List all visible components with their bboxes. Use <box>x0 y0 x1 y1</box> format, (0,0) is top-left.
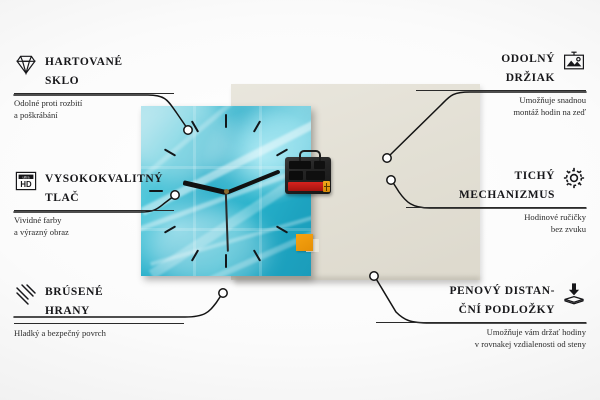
feature-rule <box>14 323 184 324</box>
feature-rule <box>14 210 174 211</box>
feature-rule <box>14 93 174 94</box>
feature-title-line2: HRANY <box>45 305 90 317</box>
svg-text:ultra: ultra <box>23 175 30 179</box>
hanger-hook <box>299 150 321 161</box>
feature-desc-line1: Vividné farby <box>14 214 174 226</box>
feature-hd-print: ultra HD VYSOKOKVALITNÝ TLAČ Vividné far… <box>14 169 174 238</box>
feature-title-line1: TICHÝ <box>515 170 555 182</box>
clock-mechanism <box>285 157 331 194</box>
feature-desc-line1: Umožňuje snadnou <box>416 94 586 106</box>
feature-desc-line2: a poškrábání <box>14 109 174 121</box>
feature-desc-line2: a výrazný obraz <box>14 226 174 238</box>
feature-desc-line2: v rovnakej vzdialenosti od steny <box>376 338 586 350</box>
feature-desc-line2: montáž hodin na zeď <box>416 106 586 118</box>
picture-hanger-icon <box>562 49 586 73</box>
feature-rule <box>416 90 586 91</box>
feature-foam-spacers: PENOVÝ DISTAN- ČNÍ PODLOŽKY Umožňuje vám… <box>376 281 586 350</box>
gear-icon <box>562 166 586 190</box>
battery <box>288 182 326 191</box>
feature-hardened-glass: HARTOVANÉ SKLO Odolné proti rozbití a po… <box>14 52 174 121</box>
feature-desc-line1: Odolné proti rozbití <box>14 97 174 109</box>
feature-title-line2: ČNÍ PODLOŽKY <box>459 304 555 316</box>
feature-title-line2: TLAČ <box>45 192 79 204</box>
feature-title-line1: ODOLNÝ <box>501 53 555 65</box>
feature-desc-line2: bez zvuku <box>406 223 586 235</box>
infographic-canvas: HARTOVANÉ SKLO Odolné proti rozbití a po… <box>0 0 600 400</box>
feature-silent-mechanism: TICHÝ MECHANIZMUS Hodinové ručičky bez z… <box>406 166 586 235</box>
feature-title-line2: SKLO <box>45 75 79 87</box>
battery-plus-terminal <box>323 181 330 192</box>
feature-title-line1: BRÚSENÉ <box>45 286 103 298</box>
feature-desc-line1: Umožňuje vám držať hodiny <box>376 326 586 338</box>
feature-title-line2: DRŽIAK <box>506 72 555 84</box>
diamond-icon <box>14 52 38 76</box>
feature-title-line1: PENOVÝ DISTAN- <box>449 285 555 297</box>
ultra-hd-icon: ultra HD <box>14 169 38 193</box>
feature-rule <box>406 207 586 208</box>
feature-beveled-edges: BRÚSENÉ HRANY Hladký a bezpečný povrch <box>14 282 184 339</box>
foam-spacer-pad <box>296 234 313 251</box>
feature-desc-line1: Hladký a bezpečný povrch <box>14 327 184 339</box>
foam-spacer-icon <box>562 281 586 305</box>
beveled-edges-icon <box>14 282 38 306</box>
svg-text:HD: HD <box>20 180 32 189</box>
feature-title-line1: HARTOVANÉ <box>45 56 123 68</box>
feature-title-line1: VYSOKOKVALITNÝ <box>45 173 163 185</box>
feature-desc-line1: Hodinové ručičky <box>406 211 586 223</box>
clock-hub <box>224 189 229 194</box>
feature-durable-holder: ODOLNÝ DRŽIAK Umožňuje snadnou montáž ho… <box>416 49 586 118</box>
feature-title-line2: MECHANIZMUS <box>459 189 555 201</box>
feature-rule <box>376 322 586 323</box>
